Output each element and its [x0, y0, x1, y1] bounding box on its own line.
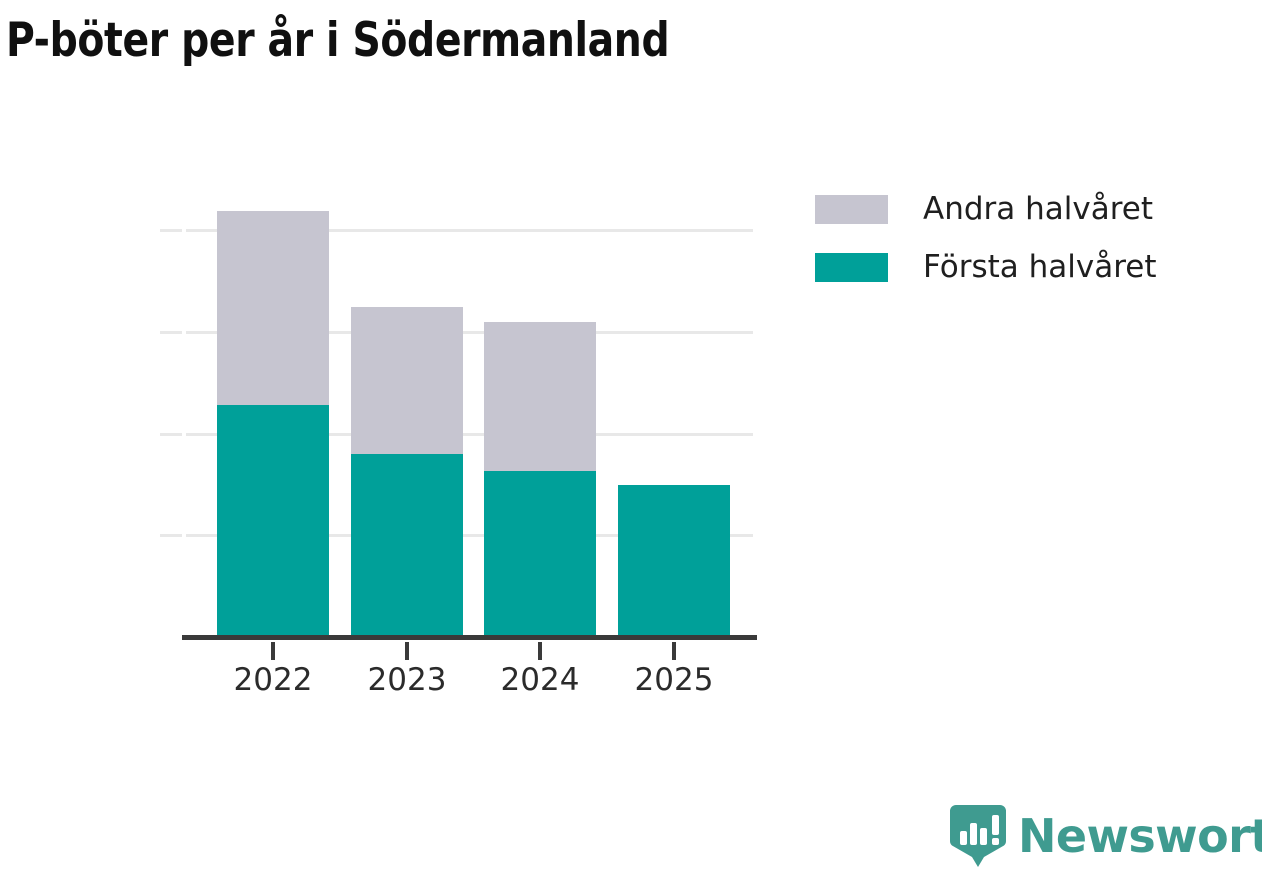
bar-segment-forsta-halvaret[interactable]: [351, 454, 463, 637]
bar-segment-forsta-halvaret[interactable]: [217, 405, 329, 637]
legend-swatch-andra-halvaret: [815, 195, 888, 224]
x-tick-2022: [271, 642, 275, 660]
x-tick-2024: [538, 642, 542, 660]
legend-item-forsta-halvaret[interactable]: Första halvåret: [815, 238, 1235, 296]
newsworthy-logo[interactable]: Newsworthy: [950, 805, 1262, 867]
x-axis: 2022 2023 2024 2025: [186, 637, 753, 717]
x-tick-2023: [405, 642, 409, 660]
x-tick-2025: [672, 642, 676, 660]
legend-label: Första halvåret: [923, 250, 1156, 284]
bar-segment-andra-halvaret[interactable]: [351, 307, 463, 454]
bar-segment-andra-halvaret[interactable]: [484, 322, 596, 471]
legend-label: Andra halvåret: [923, 192, 1153, 226]
speech-bubble-bar-chart-icon: [950, 805, 1006, 867]
page-title: P-böter per år i Södermanland: [6, 8, 1122, 74]
y-tick-20000: [160, 229, 182, 232]
x-axis-tick-label: 2025: [594, 662, 754, 698]
y-tick-10000: [160, 433, 182, 436]
chart-legend: Andra halvåret Första halvåret: [815, 180, 1235, 296]
x-axis-line: [182, 635, 757, 640]
legend-swatch-forsta-halvaret: [815, 253, 888, 282]
bar-segment-andra-halvaret[interactable]: [217, 211, 329, 405]
bar-segment-forsta-halvaret[interactable]: [618, 485, 730, 637]
legend-item-andra-halvaret[interactable]: Andra halvåret: [815, 180, 1235, 238]
plot-area: [186, 205, 753, 637]
bar-segment-forsta-halvaret[interactable]: [484, 471, 596, 637]
y-tick-5000: [160, 534, 182, 537]
brand-wordmark: Newsworthy: [1018, 813, 1262, 859]
y-tick-15000: [160, 331, 182, 334]
